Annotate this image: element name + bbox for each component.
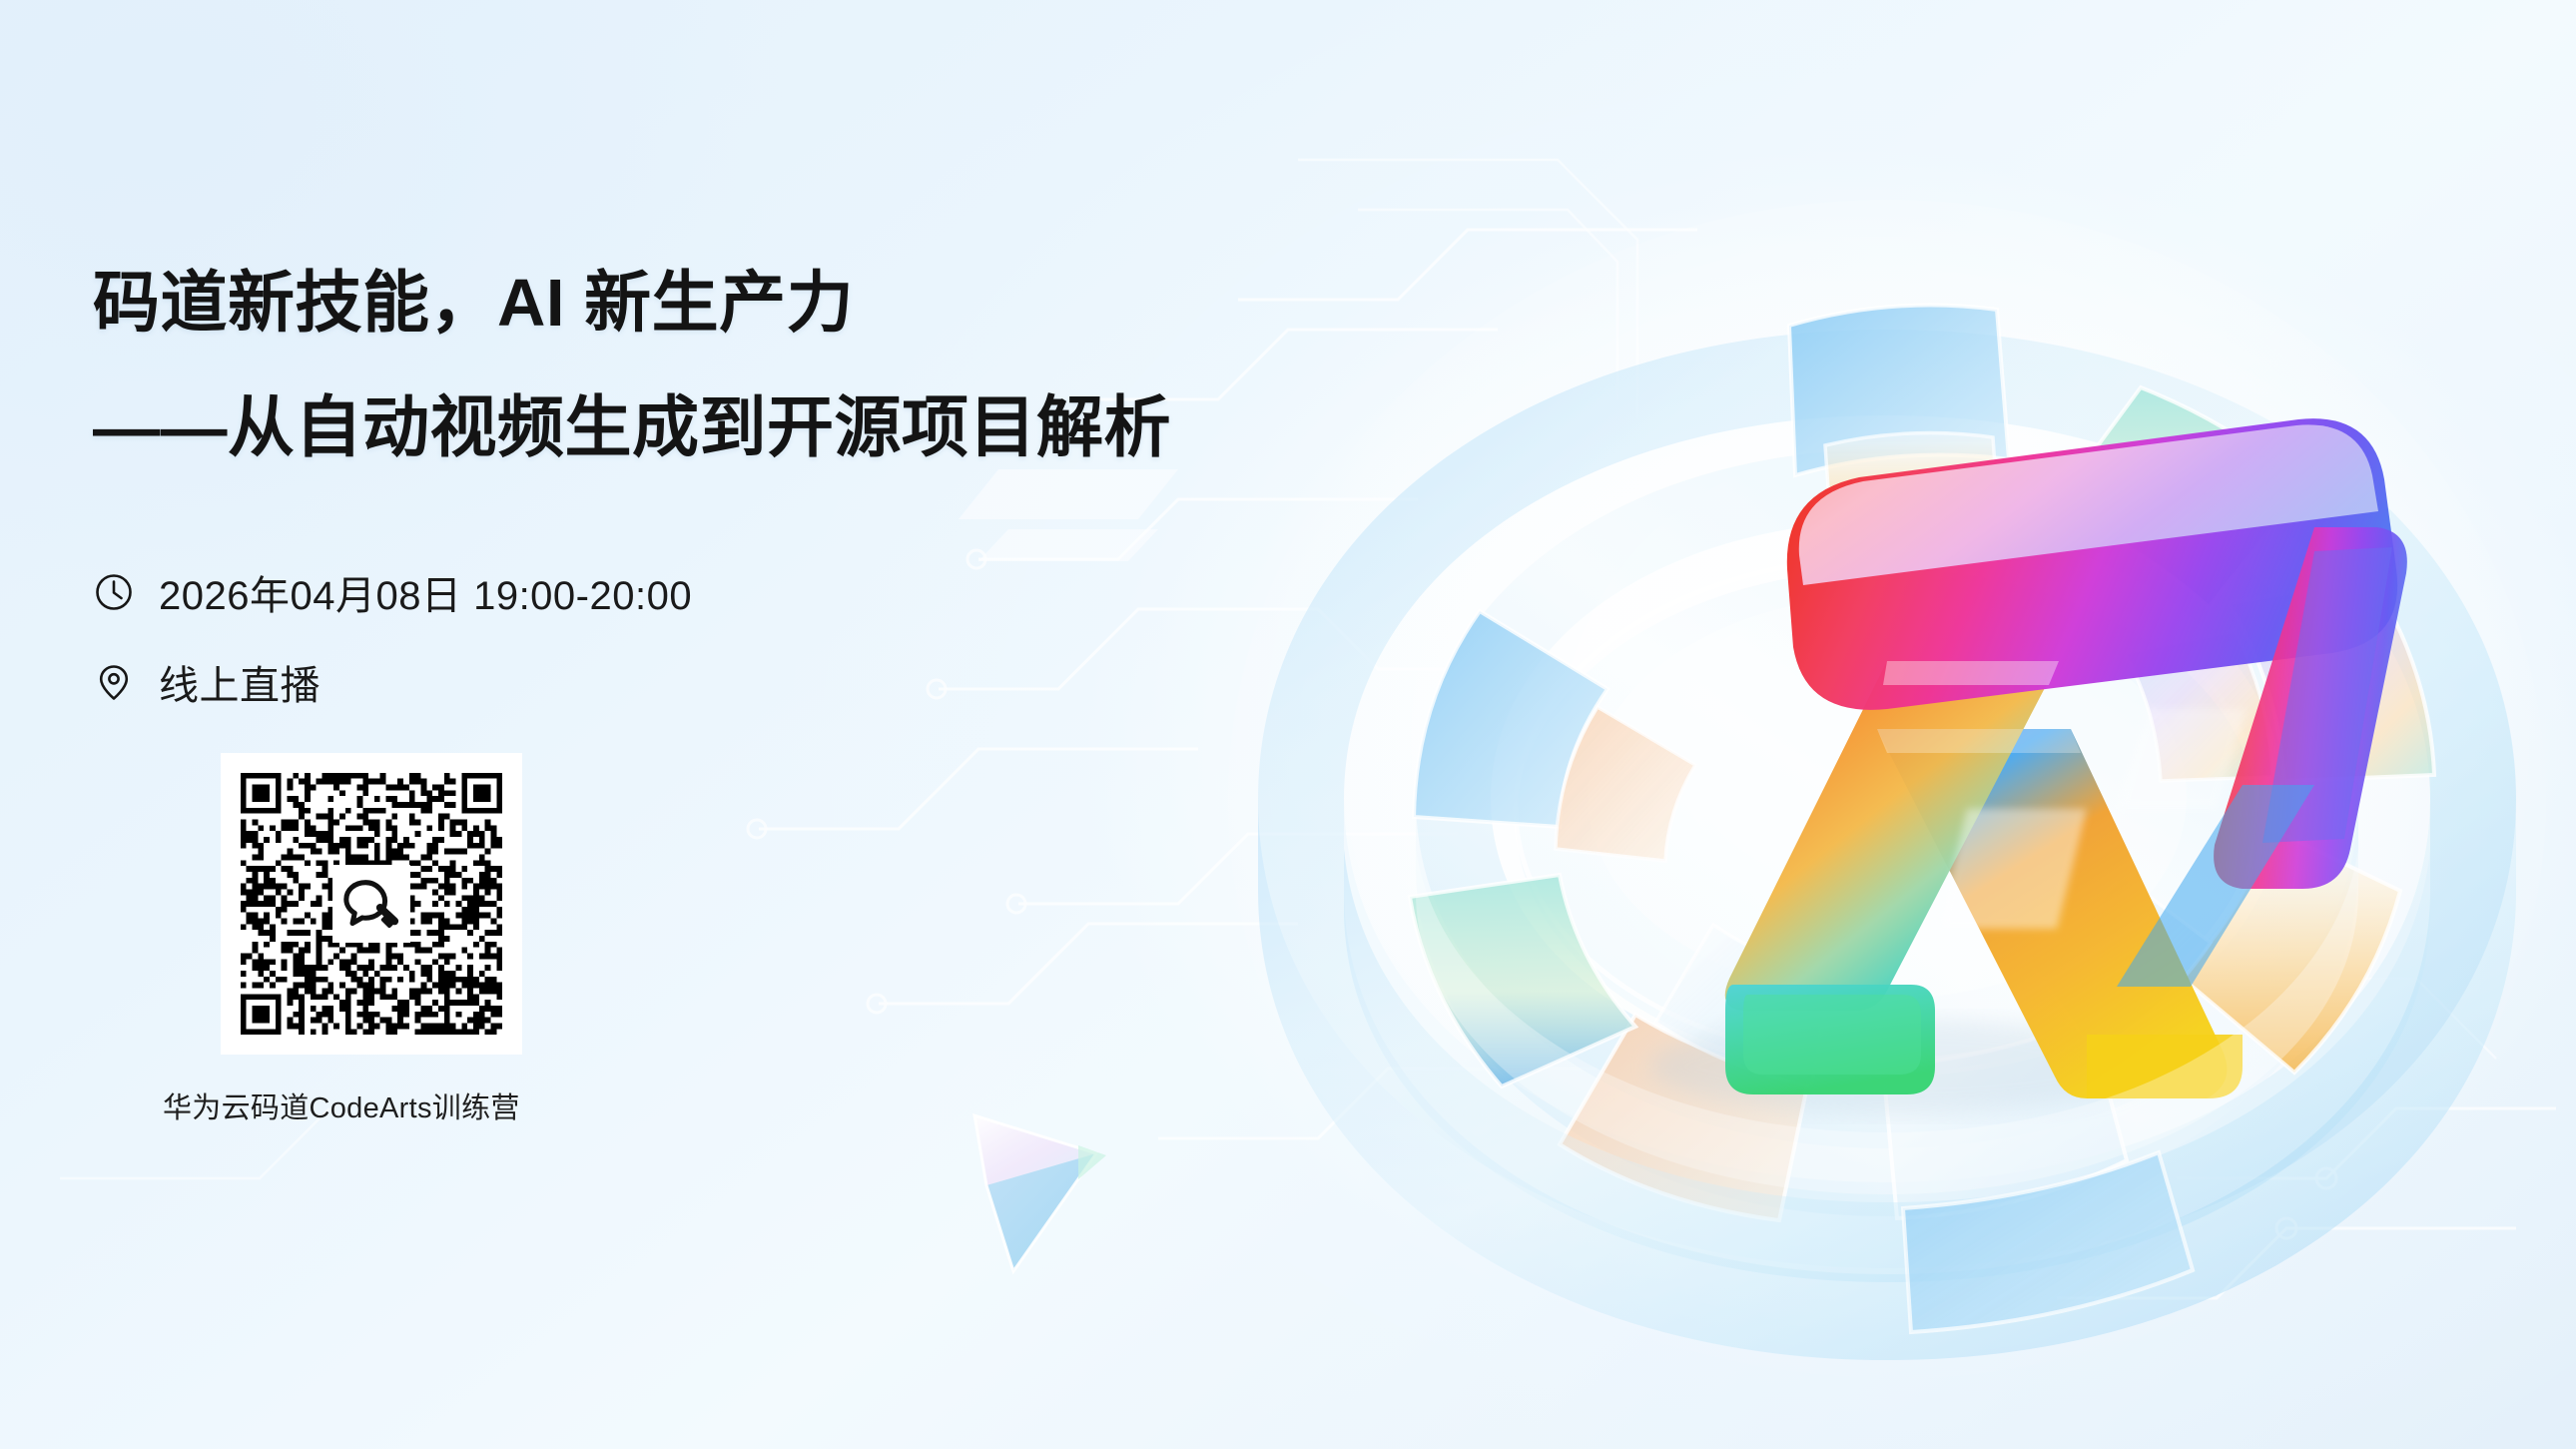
poster-content: 码道新技能，AI 新生产力 ——从自动视频生成到开源项目解析 2026年04月0… bbox=[93, 270, 1151, 1126]
speech-bubble-icon bbox=[332, 865, 410, 943]
page-title-line2: ——从自动视频生成到开源项目解析 bbox=[93, 394, 1151, 461]
clock-icon bbox=[93, 571, 135, 613]
location-pin-icon bbox=[93, 661, 135, 703]
qr-code[interactable] bbox=[221, 753, 522, 1055]
meta-row-datetime: 2026年04月08日 19:00-20:00 bbox=[93, 563, 1151, 621]
event-location: 线上直播 bbox=[159, 653, 321, 711]
page-title-line1: 码道新技能，AI 新生产力 bbox=[93, 270, 1151, 337]
event-meta: 2026年04月08日 19:00-20:00 线上直播 bbox=[93, 563, 1151, 711]
poster-canvas: 码道新技能，AI 新生产力 ——从自动视频生成到开源项目解析 2026年04月0… bbox=[0, 0, 2576, 1449]
meta-row-location: 线上直播 bbox=[93, 653, 1151, 711]
rainbow-ribbon-z-icon bbox=[1188, 150, 2576, 1449]
qr-block: 华为云码道CodeArts训练营 bbox=[221, 753, 542, 1126]
glass-prism-icon bbox=[929, 1093, 1198, 1343]
qr-caption: 华为云码道CodeArts训练营 bbox=[163, 1085, 464, 1126]
event-datetime: 2026年04月08日 19:00-20:00 bbox=[159, 563, 692, 621]
